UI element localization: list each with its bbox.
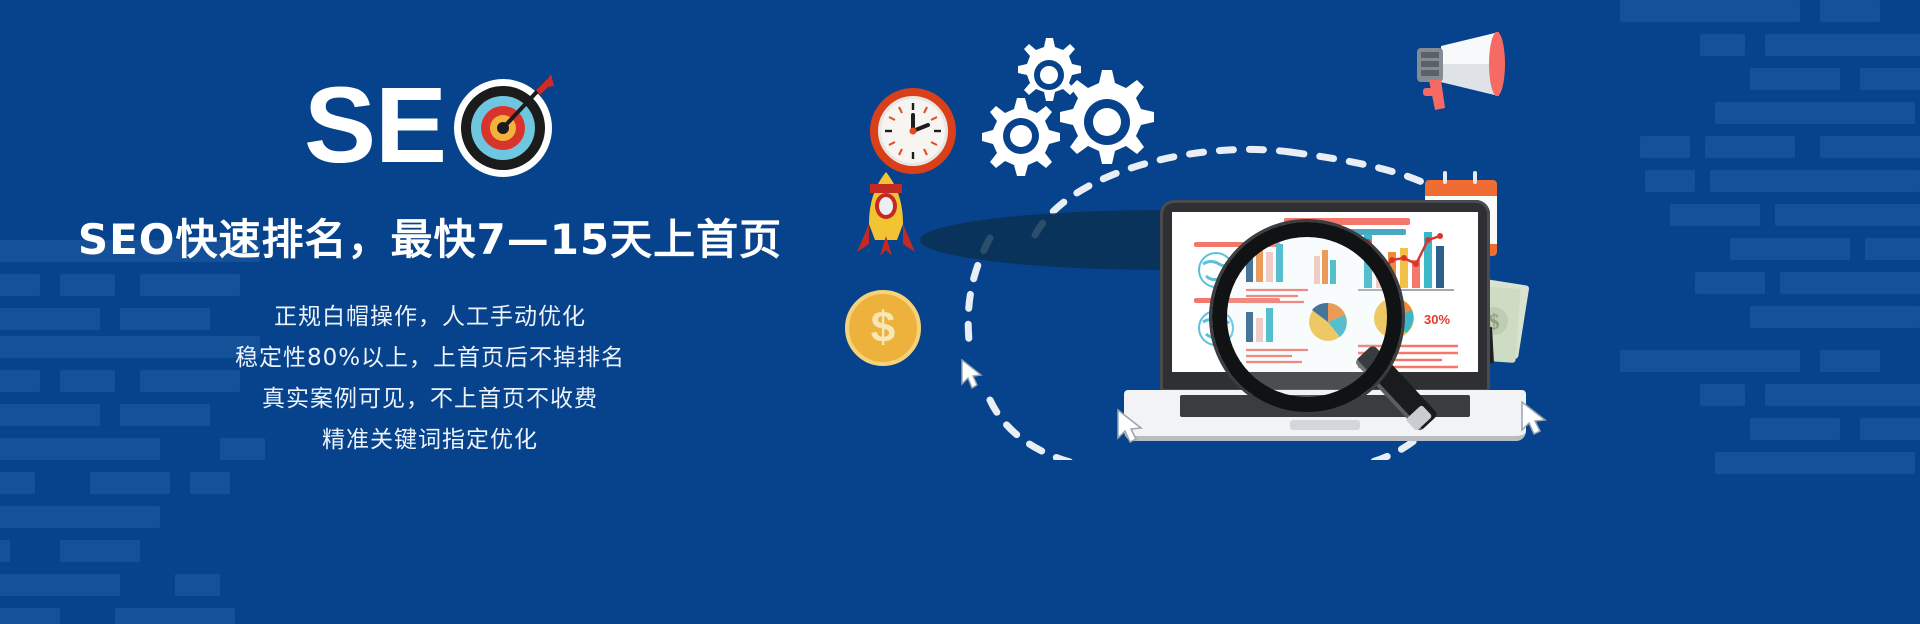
logo-text-se: SE (304, 71, 446, 179)
code-block-segment (1730, 238, 1850, 260)
clock-icon (870, 88, 956, 174)
gears-icon (980, 30, 1160, 180)
code-block-segment (0, 472, 35, 494)
code-block-segment (0, 506, 160, 528)
seo-logo: SE (0, 70, 860, 180)
code-block-segment (1775, 204, 1920, 226)
code-block-segment (1750, 306, 1920, 328)
code-block-segment (1865, 238, 1920, 260)
code-block-segment (1750, 68, 1840, 90)
page-title: SEO快速排名，最快7—15天上首页 (0, 206, 860, 267)
code-block-segment (1820, 350, 1880, 372)
code-block-segment (115, 608, 235, 624)
code-block-segment (1765, 384, 1920, 406)
code-block-segment (0, 574, 120, 596)
magnifier-lens (1212, 222, 1402, 412)
code-block-segment (175, 574, 220, 596)
code-block-segment (190, 472, 230, 494)
banner-text-column: SE SEO快速排名，最快7—15天上首页 正规白帽操作，人工手动优化 稳定性8… (0, 70, 860, 461)
code-block-segment (1715, 102, 1915, 124)
code-block-segment (1695, 272, 1765, 294)
bullseye-target-icon (450, 72, 556, 178)
calendar-ring-right (1473, 171, 1477, 184)
code-block-segment (0, 540, 10, 562)
code-block-segment (60, 540, 140, 562)
code-block-segment (1820, 0, 1880, 22)
code-block-segment (1715, 452, 1915, 474)
calendar-header (1425, 180, 1497, 196)
feature-line-2: 稳定性80%以上，上首页后不掉排名 (0, 338, 860, 379)
code-block-segment (1860, 68, 1920, 90)
code-block-segment (1710, 170, 1920, 192)
feature-line-3: 真实案例可见，不上首页不收费 (0, 379, 860, 420)
feature-line-1: 正规白帽操作，人工手动优化 (0, 297, 860, 338)
feature-line-4: 精准关键词指定优化 (0, 420, 860, 461)
calendar-ring-left (1443, 171, 1447, 184)
seo-illustration: $ (1000, 0, 1700, 624)
code-block-segment (1780, 272, 1920, 294)
cursor-pointer-icon-coin (960, 358, 986, 390)
dollar-coin-icon: $ (845, 290, 921, 366)
code-block-segment (1860, 418, 1920, 440)
megaphone-icon (1395, 30, 1505, 120)
cursor-pointer-icon-right (1520, 400, 1550, 436)
code-block-segment (1700, 34, 1745, 56)
code-block-segment (1765, 34, 1920, 56)
cursor-pointer-icon-left (1116, 408, 1146, 444)
code-block-segment (0, 608, 60, 624)
code-block-segment (1705, 136, 1795, 158)
code-block-segment (1750, 418, 1840, 440)
magnifying-glass-icon (1212, 222, 1422, 432)
rocket-icon (855, 170, 917, 270)
seo-promo-banner: SE SEO快速排名，最快7—15天上首页 正规白帽操作，人工手动优化 稳定性8… (0, 0, 1920, 624)
dollar-symbol: $ (871, 306, 895, 350)
code-block-segment (1700, 384, 1745, 406)
code-block-segment (90, 472, 170, 494)
screen-stat-label: 30% (1424, 312, 1450, 327)
code-block-segment (1820, 136, 1920, 158)
